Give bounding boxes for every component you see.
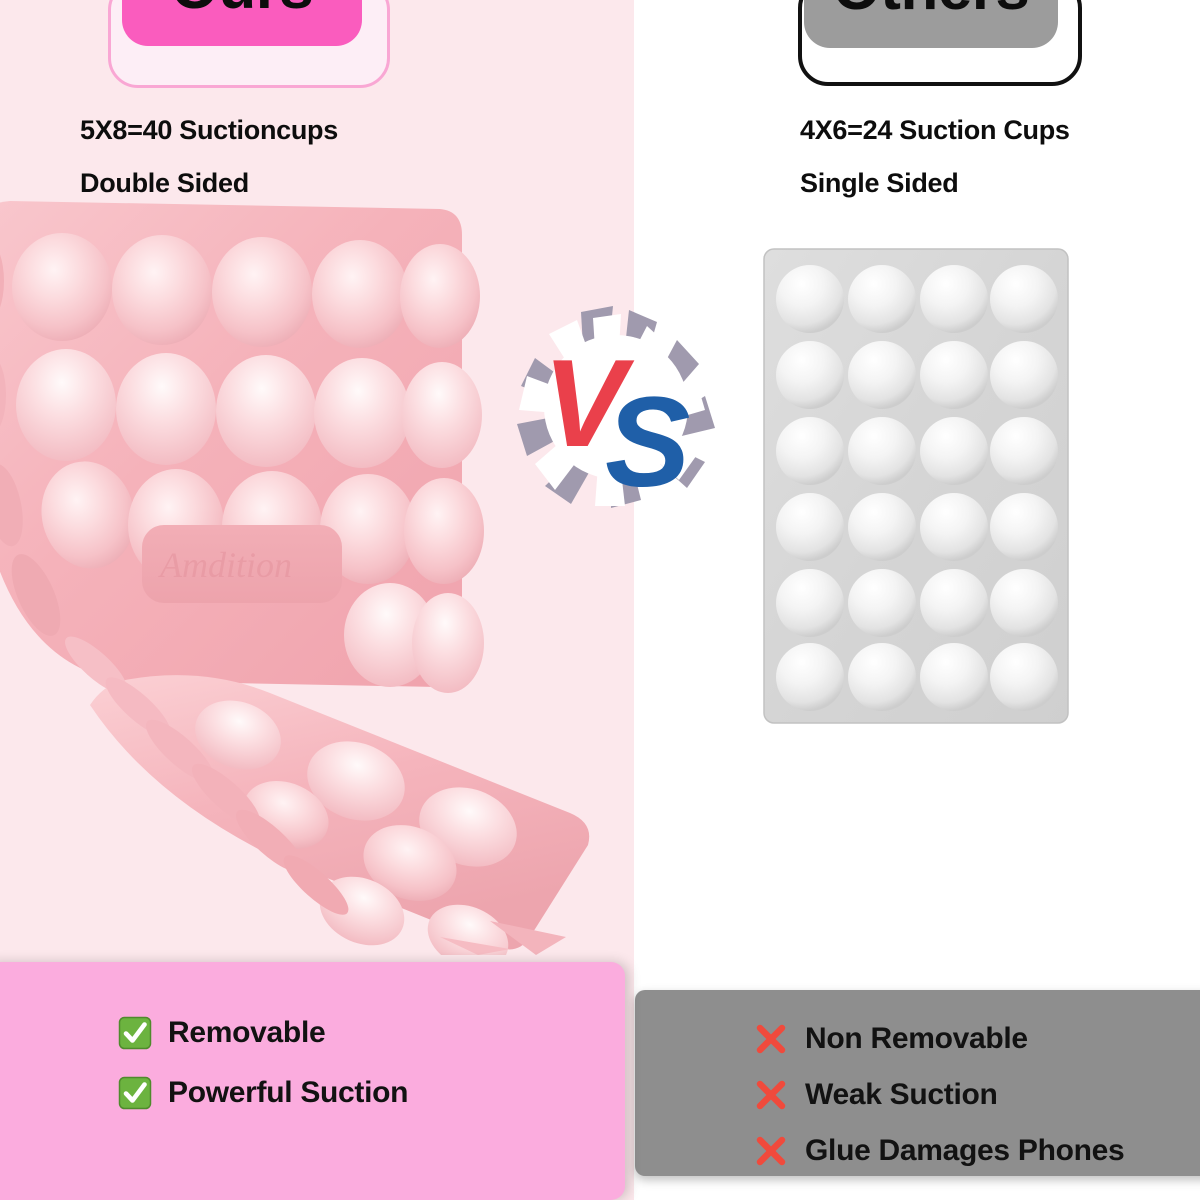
others-feature-label: Glue Damages Phones	[805, 1134, 1124, 1168]
ours-spec-count: 5X8=40 Suctioncups	[80, 115, 338, 146]
vs-badge: V S	[509, 300, 724, 515]
list-item: Weak Suction	[755, 1074, 1124, 1116]
ours-feature-list: Removable Powerful Suction	[118, 1012, 408, 1132]
list-item: Glue Damages Phones	[755, 1130, 1124, 1172]
others-badge: Others	[790, 0, 1082, 88]
others-spec-count: 4X6=24 Suction Cups	[800, 115, 1070, 146]
ours-footer-panel: Removable Powerful Suction	[0, 962, 625, 1200]
list-item: Powerful Suction	[118, 1072, 408, 1114]
others-feature-label: Non Removable	[805, 1022, 1028, 1056]
green-check-icon	[118, 1076, 152, 1110]
ours-badge: Ours	[108, 0, 390, 88]
comparison-infographic: Amdition	[0, 0, 1200, 1200]
others-badge-label: Others	[804, 0, 1058, 48]
ours-badge-label: Ours	[122, 0, 362, 46]
red-cross-icon	[755, 1135, 787, 1167]
others-spec-sided: Single Sided	[800, 168, 958, 199]
ours-feature-label: Powerful Suction	[168, 1076, 408, 1110]
others-footer-panel: Non Removable Weak Suction	[635, 990, 1200, 1176]
green-check-icon	[118, 1016, 152, 1050]
ours-spec-sided: Double Sided	[80, 168, 249, 199]
red-cross-icon	[755, 1079, 787, 1111]
others-feature-list: Non Removable Weak Suction	[755, 1018, 1124, 1186]
list-item: Removable	[118, 1012, 408, 1054]
others-feature-label: Weak Suction	[805, 1078, 998, 1112]
ours-feature-label: Removable	[168, 1016, 325, 1050]
list-item: Non Removable	[755, 1018, 1124, 1060]
red-cross-icon	[755, 1023, 787, 1055]
others-product-image	[762, 247, 1070, 725]
svg-text:Amdition: Amdition	[158, 545, 292, 585]
vs-right-letter: S	[605, 371, 690, 514]
